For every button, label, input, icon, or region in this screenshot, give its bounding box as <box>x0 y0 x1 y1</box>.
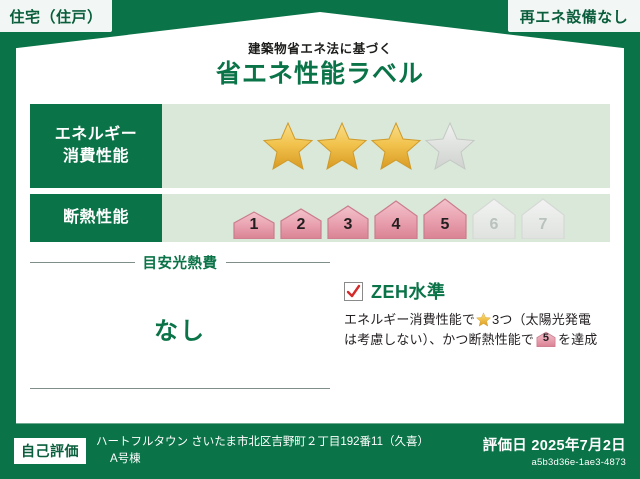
star-icon-3 <box>370 121 422 171</box>
house-icon-4: 4 <box>373 200 419 239</box>
house-icon-2: 2 <box>279 208 323 239</box>
row-insulation-label-text: 断熱性能 <box>63 207 129 229</box>
zeh-desc-part3: を達成 <box>558 332 597 347</box>
inline-chip-number: 5 <box>536 330 556 347</box>
badge-renewable-equipment: 再エネ設備なし <box>508 0 640 32</box>
house-icon-5: 5 <box>422 198 468 239</box>
row-insulation-value: 1 2 3 <box>162 194 610 242</box>
lower-section: 目安光熱費 なし ZEH水準 エネルギー消費性能で3つ（太陽光発電 <box>30 252 610 389</box>
property-address-line1: ハートフルタウン さいたま市北区吉野町２丁目192番11（久喜） <box>96 434 429 451</box>
label-card: エネルギー 消費性能 <box>16 96 624 423</box>
star-rating <box>262 121 476 171</box>
check-icon <box>346 284 361 299</box>
utility-cost-heading: 目安光熱費 <box>30 252 330 273</box>
inline-house-chip-icon: 5 <box>536 331 556 347</box>
document-id: a5b3d36e-1ae3-4873 <box>483 457 626 468</box>
evaluation-date: 評価日 2025年7月2日 <box>483 434 626 455</box>
footer-meta: 評価日 2025年7月2日 a5b3d36e-1ae3-4873 <box>483 434 626 468</box>
zeh-section: ZEH水準 エネルギー消費性能で3つ（太陽光発電 は考慮しない）、かつ断熱性能で… <box>330 252 610 389</box>
star-icon-2 <box>316 121 368 171</box>
zeh-desc-part1: エネルギー消費性能で <box>344 312 475 327</box>
zeh-checkbox[interactable] <box>344 282 363 301</box>
rule-right <box>226 262 331 263</box>
evaluation-type-badge: 自己評価 <box>14 438 86 464</box>
utility-cost-title: 目安光熱費 <box>143 252 218 273</box>
row-insulation-performance: 断熱性能 1 <box>30 194 610 242</box>
star-icon-4-empty <box>424 121 476 171</box>
badge-building-type: 住宅（住戸） <box>0 0 112 32</box>
page-title: 省エネ性能ラベル <box>0 54 640 90</box>
house-icon-7: 7 <box>520 198 566 239</box>
row-energy-label: エネルギー 消費性能 <box>30 104 162 188</box>
insulation-scale: 1 2 3 <box>232 198 566 239</box>
property-address-line2: A号棟 <box>96 451 429 468</box>
zeh-heading: ZEH水準 <box>344 278 610 304</box>
utility-cost-bottom-rule <box>30 388 330 389</box>
rule-left <box>30 262 135 263</box>
row-energy-label-line1: エネルギー <box>55 124 138 146</box>
label-footer: 自己評価 ハートフルタウン さいたま市北区吉野町２丁目192番11（久喜） A号… <box>0 423 640 479</box>
zeh-desc-starcount: 3つ（太陽光発電 <box>492 312 591 327</box>
utility-cost-section: 目安光熱費 なし <box>30 252 330 389</box>
row-energy-performance: エネルギー 消費性能 <box>30 104 610 188</box>
zeh-description: エネルギー消費性能で3つ（太陽光発電 は考慮しない）、かつ断熱性能で5を達成 <box>344 310 610 350</box>
zeh-desc-part2: は考慮しない）、かつ断熱性能で <box>344 332 534 347</box>
energy-label-root: 住宅（住戸） 再エネ設備なし 建築物省エネ法に基づく 省エネ性能ラベル エネルギ… <box>0 0 640 479</box>
house-icon-6: 6 <box>471 198 517 239</box>
house-icon-1: 1 <box>232 211 276 239</box>
house-icon-3: 3 <box>326 205 370 239</box>
star-icon-1 <box>262 121 314 171</box>
property-address: ハートフルタウン さいたま市北区吉野町２丁目192番11（久喜） A号棟 <box>96 434 429 467</box>
footer-divider <box>16 423 624 424</box>
row-insulation-label: 断熱性能 <box>30 194 162 242</box>
row-energy-value <box>162 104 610 188</box>
row-energy-label-line2: 消費性能 <box>63 146 129 168</box>
utility-cost-value: なし <box>30 311 330 346</box>
zeh-title: ZEH水準 <box>371 278 446 304</box>
inline-star-icon <box>476 312 491 327</box>
